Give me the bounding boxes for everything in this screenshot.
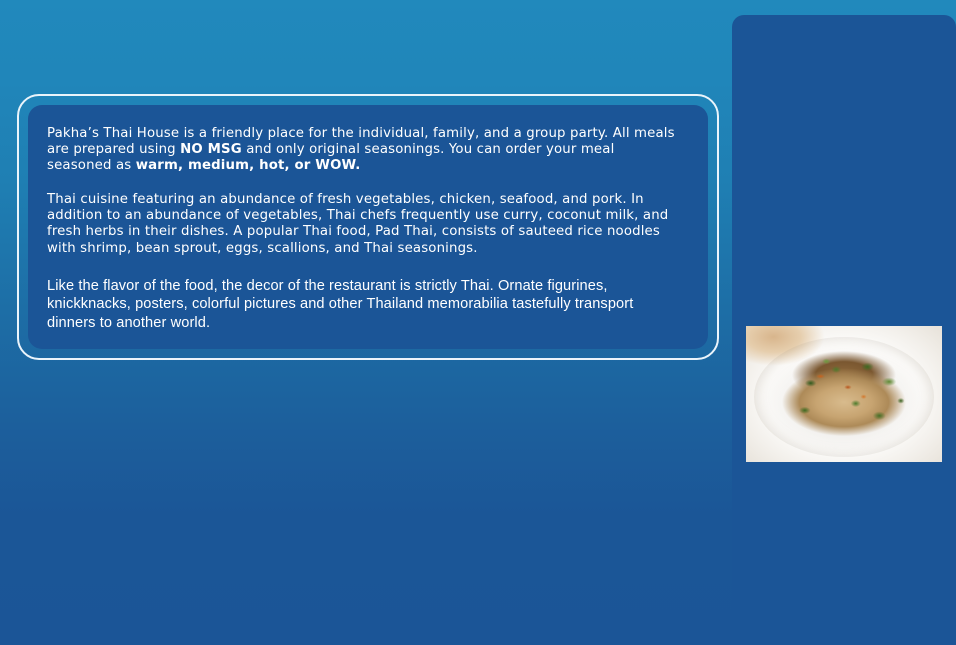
spice-levels-emphasis: warm, medium, hot, or WOW. bbox=[136, 158, 361, 173]
no-msg-emphasis: NO MSG bbox=[180, 142, 242, 157]
text-callout-inner: Pakha’s Thai House is a friendly place f… bbox=[28, 105, 708, 349]
decor-paragraph: Like the flavor of the food, the decor o… bbox=[47, 277, 682, 333]
pad-thai-photo bbox=[746, 326, 942, 462]
text-callout: Pakha’s Thai House is a friendly place f… bbox=[17, 94, 719, 360]
food-photo-frame bbox=[746, 326, 942, 462]
cuisine-paragraph: Thai cuisine featuring an abundance of f… bbox=[47, 192, 682, 256]
intro-paragraph: Pakha’s Thai House is a friendly place f… bbox=[47, 126, 682, 174]
plate-rim bbox=[754, 337, 934, 457]
